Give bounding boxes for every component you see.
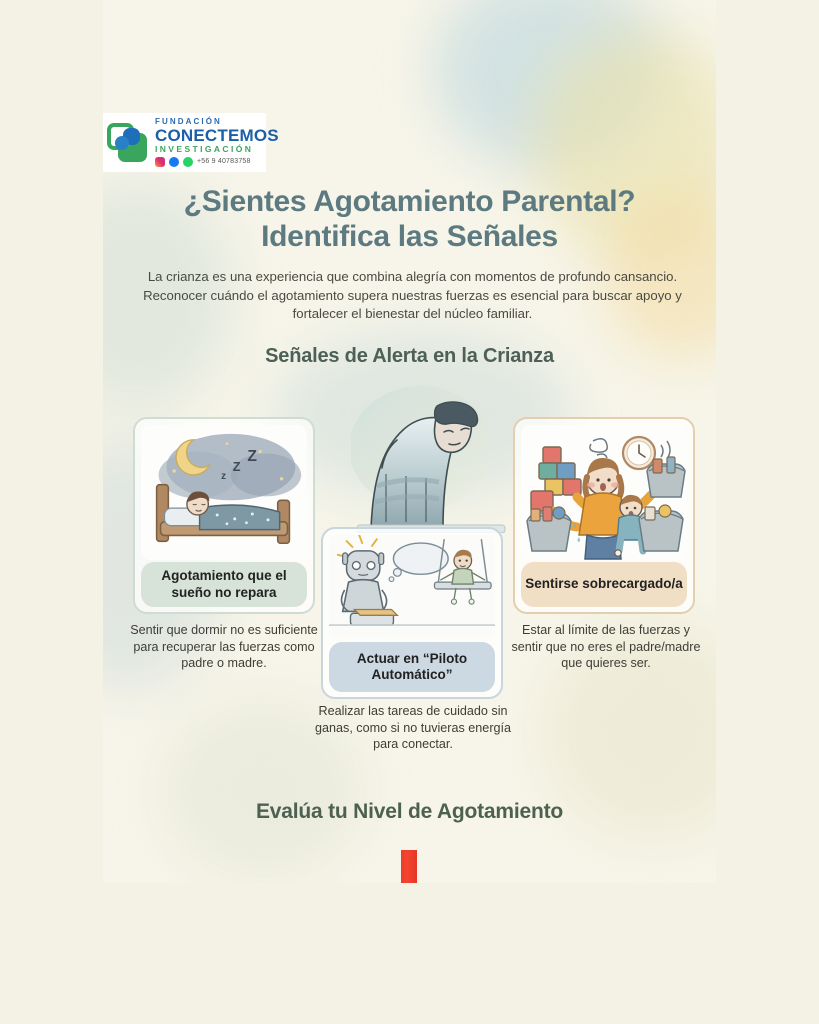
down-arrow-icon[interactable] [386,850,432,883]
card-overloaded-label: Sentirse sobrecargado/a [521,562,687,607]
overwhelmed-mother-juggling-tasks-illustration [521,425,687,560]
logo-social-row: +56 9 40783758 [155,157,279,167]
card-overloaded[interactable]: Sentirse sobrecargado/a [513,417,695,614]
page-title: ¿Sientes Agotamiento Parental? Identific… [103,185,716,255]
conectemos-logo-icon [107,123,147,163]
cta-heading: Evalúa tu Nivel de Agotamiento [103,800,716,824]
logo-phone: +56 9 40783758 [197,158,251,165]
card-sleep-caption: Sentir que dormir no es suficiente para … [125,622,323,672]
logo-name: CONECTEMOS [155,127,279,144]
logo-band: FUNDACIÓN CONECTEMOS INVESTIGACIÓN +56 9… [103,113,266,172]
logo-investigacion: INVESTIGACIÓN [155,145,279,154]
card-sleep[interactable]: z Z Z Agotamiento que el sueño no repara [133,417,315,614]
instagram-icon[interactable] [155,157,165,167]
card-overloaded-caption: Estar al límite de las fuerzas y sentir … [507,622,705,672]
svg-text:Z: Z [247,448,257,465]
watercolor-wash-blue [433,0,663,170]
poster: FUNDACIÓN CONECTEMOS INVESTIGACIÓN +56 9… [103,0,716,883]
page-title-line1: ¿Sientes Agotamiento Parental? [103,185,716,220]
logo-text: FUNDACIÓN CONECTEMOS INVESTIGACIÓN +56 9… [155,118,279,167]
card-autopilot-caption: Realizar las tareas de cuidado sin ganas… [315,703,511,753]
svg-text:Z: Z [233,460,241,474]
whatsapp-icon[interactable] [183,157,193,167]
svg-text:z: z [221,471,226,482]
card-sleep-label: Agotamiento que el sueño no repara [141,562,307,607]
tired-parent-illustration [351,378,511,533]
section-heading: Señales de Alerta en la Crianza [103,345,716,368]
logo-fundacion: FUNDACIÓN [155,118,279,126]
card-autopilot[interactable]: Actuar en “Piloto Automático” [321,527,503,699]
page-title-line2: Identifica las Señales [103,220,716,255]
robot-parent-with-child-on-swing-illustration [329,535,495,639]
intro-paragraph: La crianza es una experiencia que combin… [133,268,692,324]
facebook-icon[interactable] [169,157,179,167]
card-autopilot-label: Actuar en “Piloto Automático” [329,642,495,692]
sleeping-person-in-bed-illustration: z Z Z [141,425,307,560]
